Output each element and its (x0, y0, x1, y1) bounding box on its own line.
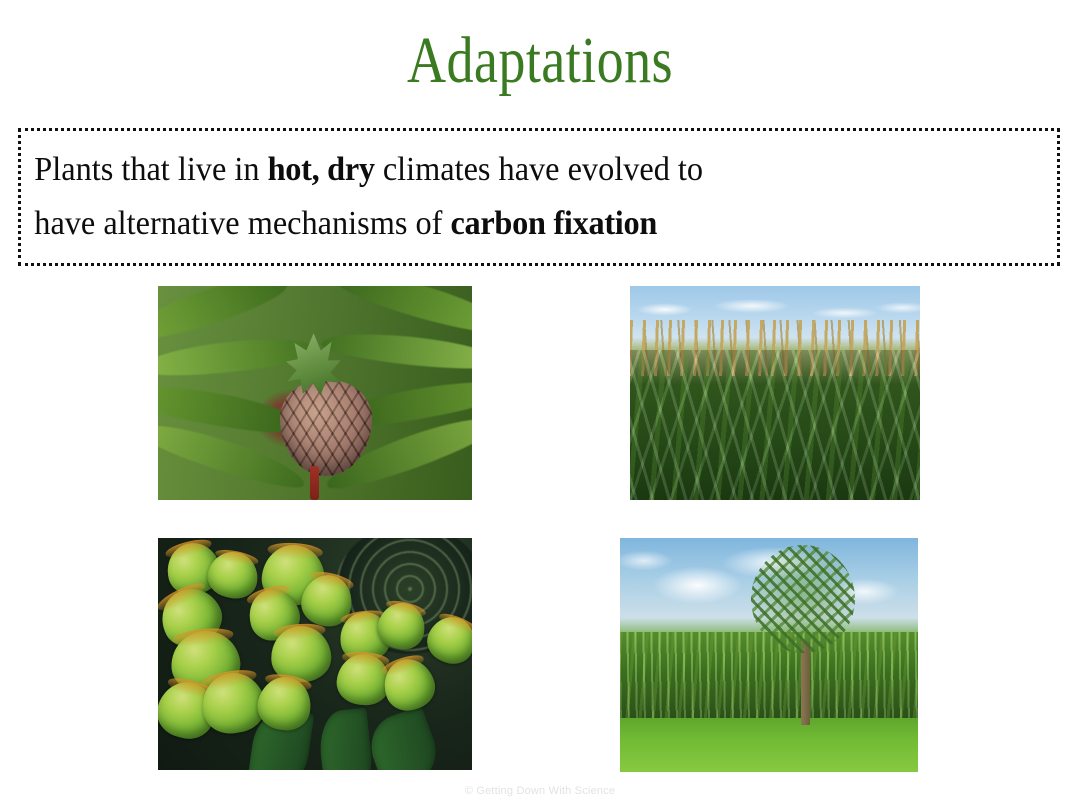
jade-scene (158, 538, 472, 770)
corn-scene (630, 286, 920, 500)
statement-line2-part1: have alternative mechanisms of (34, 205, 450, 242)
statement-line1-part1: Plants that live in (34, 151, 267, 188)
statement-line-2: have alternative mechanisms of carbon fi… (21, 197, 1005, 251)
footer-credit: © Getting Down With Science (0, 785, 1080, 797)
statement-line1-part2: climates have evolved to (375, 151, 703, 188)
page-title: Adaptations (97, 22, 983, 100)
aloe-leaf (362, 706, 445, 770)
grass-lawn (620, 718, 918, 772)
sugarcane-scene (620, 538, 918, 772)
statement-line2-bold: carbon fixation (450, 205, 657, 242)
sugarcane-field-photo (620, 538, 918, 772)
corn-leaves (630, 350, 920, 500)
statement-line-1: Plants that live in hot, dry climates ha… (21, 143, 1005, 197)
statement-textbox: Plants that live in hot, dry climates ha… (18, 128, 1060, 266)
tree-trunk (801, 641, 810, 725)
sugarcane-rows (620, 632, 918, 726)
pineapple-leaf (333, 286, 472, 342)
corn-field-photo (630, 286, 920, 500)
tree-canopy (751, 545, 855, 653)
pineapple-leaf (320, 328, 472, 375)
pineapple-scene (158, 286, 472, 500)
jade-succulent-photo (158, 538, 472, 770)
pineapple-plant-photo (158, 286, 472, 500)
statement-line1-bold: hot, dry (268, 151, 375, 188)
aloe-leaf (317, 707, 376, 770)
pineapple-stem (310, 466, 319, 500)
